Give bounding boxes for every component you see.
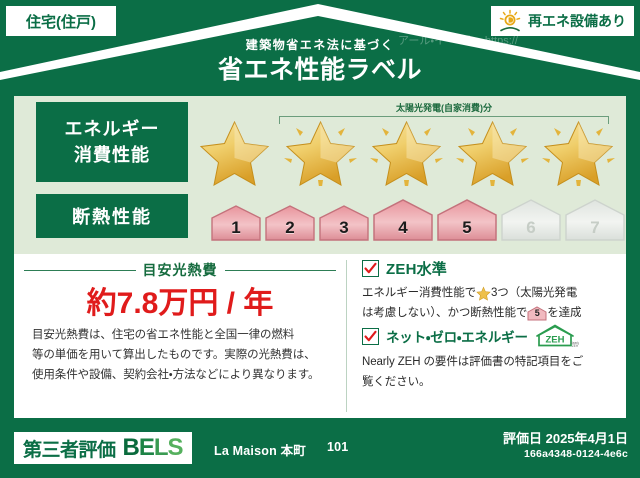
star-item <box>278 114 363 186</box>
net-zero-description-line-2: 覧ください。 <box>362 372 624 392</box>
evaluation-date: 評価日 2025年4月1日 <box>503 428 628 447</box>
insulation-grade-label: 6 <box>500 218 562 238</box>
bels-letter-e: E <box>139 434 154 462</box>
zeh-description-text-c: は考慮しない）、かつ断熱性能で <box>362 303 527 323</box>
insulation-grade-label: 5 <box>436 218 498 238</box>
estimated-energy-cost-panel: 目安光熱費 約7.8万円 / 年 目安光熱費は、住宅の省エネ性能と全国一律の燃料… <box>14 254 346 418</box>
zeh-logo-icon: ZEH Nearly ZEH <box>535 324 579 348</box>
zeh-level-heading: ZEH水準 <box>362 258 624 279</box>
insulation-grade-item: 1 <box>210 204 262 242</box>
house-type-tag-label: 住宅(住戸) <box>26 11 96 32</box>
insulation-grade-item: 3 <box>318 204 370 242</box>
zeh-description-line-2: は考慮しない）、かつ断熱性能で 5 を達成 <box>362 303 624 323</box>
building-name: La Maison 本町 <box>214 440 306 459</box>
zeh-description-text-b: 3つ（太陽光発電 <box>491 283 577 303</box>
heading-rule-left <box>24 270 136 271</box>
sun-icon <box>497 9 523 33</box>
third-party-evaluation-label: 第三者評価 <box>23 435 116 462</box>
star-icon <box>364 114 449 186</box>
insulation-grade-label: 2 <box>264 218 316 238</box>
star-item <box>536 114 621 186</box>
bels-certification-plate: 第三者評価 B E L S <box>14 432 192 464</box>
energy-performance-label: 住宅(住戸) 再エネ設備あり 建築物省エネ法に基づく 省エネ性能ラベル <box>0 0 640 478</box>
energy-category-line1: エネルギー <box>65 116 160 142</box>
star-item <box>450 114 535 186</box>
performance-band: エネルギー 消費性能 太陽光発電(自家消費)分 <box>14 96 626 254</box>
insulation-grade-label: 7 <box>564 218 626 238</box>
star-icon <box>278 114 363 186</box>
energy-category-line2: 消費性能 <box>74 142 150 168</box>
net-zero-energy-checkbox <box>362 328 379 345</box>
energy-performance-row: エネルギー 消費性能 太陽光発電(自家消費)分 <box>14 102 626 188</box>
star-item <box>192 114 277 186</box>
bels-logo: B E L S <box>123 434 183 462</box>
insulation-grade-item: 7 <box>564 198 626 242</box>
star-icon <box>450 114 535 186</box>
heading-rule-right <box>225 270 337 271</box>
house-icon: 5 <box>527 306 547 321</box>
star-item <box>364 114 449 186</box>
label-detail-section: 目安光熱費 約7.8万円 / 年 目安光熱費は、住宅の省エネ性能と全国一律の燃料… <box>14 254 626 418</box>
star-icon <box>192 114 277 186</box>
label-main-card: エネルギー 消費性能 太陽光発電(自家消費)分 <box>14 96 626 418</box>
estimated-cost-value: 約7.8万円 / 年 <box>14 278 346 322</box>
svg-text:ZEH: ZEH <box>545 335 564 346</box>
insulation-category-label: 断熱性能 <box>72 203 152 229</box>
zeh-description-text-d: を達成 <box>547 303 581 323</box>
solar-generation-bracket-label: 太陽光発電(自家消費)分 <box>273 101 615 114</box>
insulation-grade-label: 4 <box>372 218 434 238</box>
estimated-cost-heading: 目安光熱費 <box>24 260 336 280</box>
unit-number: 101 <box>327 440 348 454</box>
cost-note-line-3: 使用条件や設備、契約会社・方法などにより異なります。 <box>32 366 332 386</box>
insulation-performance-category: 断熱性能 <box>36 194 188 238</box>
label-title-block: 建築物省エネ法に基づく 省エネ性能ラベル <box>0 38 640 87</box>
label-footer: 第三者評価 B E L S La Maison 本町 101 評価日 2025年… <box>0 418 640 478</box>
estimated-cost-heading-label: 目安光熱費 <box>143 260 218 280</box>
house-type-tag: 住宅(住戸) <box>6 6 116 36</box>
net-zero-description-line-1: Nearly ZEH の要件は評価書の特記項目をご <box>362 352 624 372</box>
net-zero-energy-heading: ネット・ゼロ・エネルギー ZEH Nearly ZEH <box>362 324 624 348</box>
insulation-grade-label: 3 <box>318 218 370 238</box>
cost-note-line-2: 等の単価を用いて算出したものです。実際の光熱費は、 <box>32 346 332 366</box>
page-title: 省エネ性能ラベル <box>0 55 640 86</box>
zeh-level-title: ZEH水準 <box>386 258 447 279</box>
certifications-panel: ZEH水準 エネルギー消費性能で 3つ（太陽光発電 は考慮しない）、かつ断熱性能… <box>354 254 626 418</box>
zeh-description-text-a: エネルギー消費性能で <box>362 283 476 303</box>
check-icon <box>364 330 377 343</box>
renewable-energy-badge: 再エネ設備あり <box>491 6 634 36</box>
renewable-energy-badge-label: 再エネ設備あり <box>528 11 626 31</box>
zeh-level-checkbox <box>362 260 379 277</box>
insulation-grade-label: 1 <box>210 218 262 238</box>
insulation-grade-scale: 1 2 3 <box>210 194 620 242</box>
bels-letter-l: L <box>154 434 168 462</box>
bels-letter-b: B <box>123 434 139 462</box>
label-subtitle: 建築物省エネ法に基づく <box>0 38 640 52</box>
star-row <box>192 114 621 186</box>
cost-note-line-1: 目安光熱費は、住宅の省エネ性能と全国一律の燃料 <box>32 326 332 346</box>
zeh-level-description: エネルギー消費性能で 3つ（太陽光発電 は考慮しない）、かつ断熱性能で <box>362 283 624 324</box>
energy-star-rating: 太陽光発電(自家消費)分 <box>192 102 620 188</box>
check-icon <box>364 262 377 275</box>
zeh-level-block: ZEH水準 エネルギー消費性能で 3つ（太陽光発電 は考慮しない）、かつ断熱性能… <box>362 258 624 324</box>
svg-text:ZEH: ZEH <box>572 344 579 348</box>
inline-house-grade: 5 <box>527 305 547 321</box>
insulation-grade-item: 6 <box>500 198 562 242</box>
zeh-description-line-1: エネルギー消費性能で 3つ（太陽光発電 <box>362 283 624 303</box>
energy-performance-category: エネルギー 消費性能 <box>36 102 188 182</box>
star-icon <box>536 114 621 186</box>
column-divider <box>346 260 347 412</box>
evaluation-id: 166a4348-0124-4e6c <box>524 448 628 460</box>
net-zero-energy-block: ネット・ゼロ・エネルギー ZEH Nearly ZEH Nearly ZEH の… <box>362 324 624 393</box>
star-icon <box>476 286 491 301</box>
insulation-performance-row: 断熱性能 <box>14 194 626 246</box>
estimated-cost-note: 目安光熱費は、住宅の省エネ性能と全国一律の燃料 等の単価を用いて算出したものです… <box>32 326 332 385</box>
bels-letter-s: S <box>168 434 183 462</box>
net-zero-energy-description: Nearly ZEH の要件は評価書の特記項目をご 覧ください。 <box>362 352 624 393</box>
insulation-grade-item: 2 <box>264 204 316 242</box>
insulation-grade-item: 5 <box>436 198 498 242</box>
insulation-grade-item: 4 <box>372 198 434 242</box>
net-zero-energy-title: ネット・ゼロ・エネルギー <box>386 326 528 346</box>
